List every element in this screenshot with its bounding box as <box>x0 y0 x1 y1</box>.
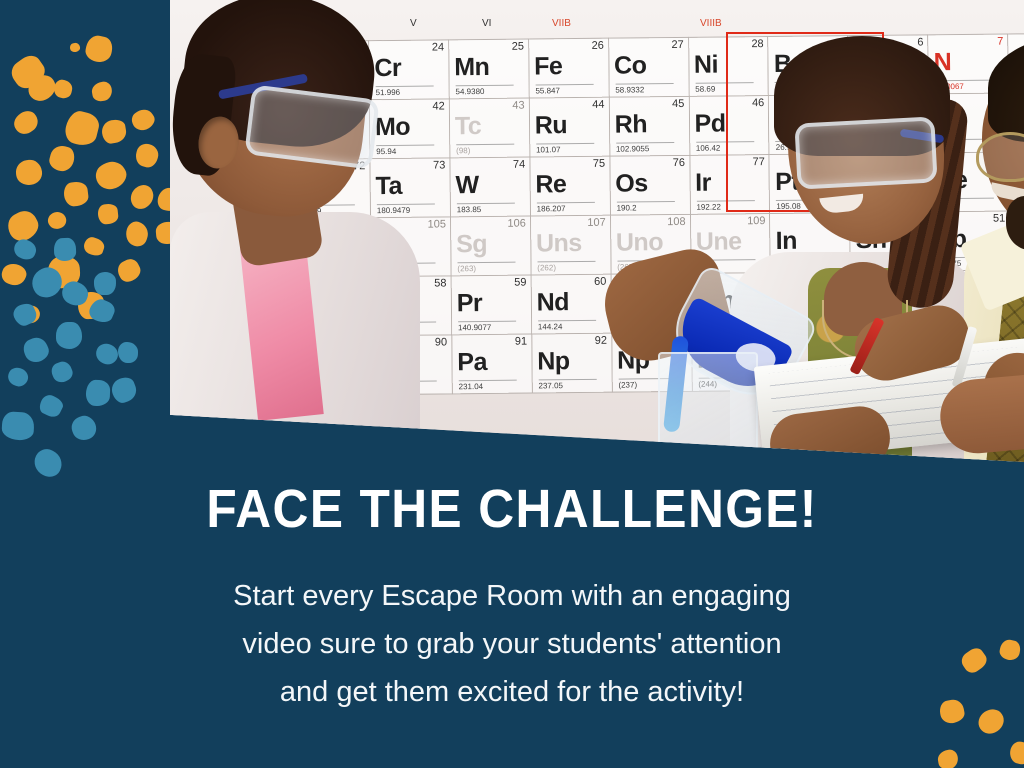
element-symbol: Os <box>615 169 648 198</box>
element-cell-Os: 76Os190.2 <box>610 155 691 215</box>
element-number: 92 <box>595 335 607 347</box>
confetti-teal-dot-icon <box>11 237 38 263</box>
element-number: 58 <box>434 277 446 289</box>
element-mass: (98) <box>456 144 514 156</box>
confetti-orange-dot-icon <box>128 106 157 134</box>
page-title: FACE THE CHALLENGE! <box>41 478 983 540</box>
element-symbol: Pr <box>457 289 483 318</box>
element-symbol: Mo <box>375 113 410 142</box>
confetti-teal-dot-icon <box>1 411 34 440</box>
element-cell-Pd: 46Pd106.42 <box>689 96 770 156</box>
confetti-orange-dot-icon <box>7 51 49 92</box>
element-number: 109 <box>747 215 765 227</box>
body-line-3: and get them excited for the activity! <box>112 668 912 716</box>
body-line-1: Start every Escape Room with an engaging <box>112 572 912 620</box>
element-mass: 54.9380 <box>455 85 513 97</box>
element-number: 59 <box>514 277 526 289</box>
element-number: 74 <box>513 159 525 171</box>
element-symbol: Re <box>535 170 566 199</box>
confetti-teal-dot-icon <box>54 238 77 261</box>
confetti-orange-dot-icon <box>3 207 43 246</box>
element-cell-Mn: 25Mn54.9380 <box>448 39 529 99</box>
element-symbol: Pa <box>457 348 487 377</box>
confetti-teal-dot-icon <box>59 278 92 309</box>
element-mass: 186.207 <box>537 202 595 214</box>
confetti-orange-dot-icon <box>24 70 61 106</box>
element-mass: 231.04 <box>459 380 517 392</box>
element-mass: 144.24 <box>538 320 596 332</box>
element-mass: 58.69 <box>695 82 753 94</box>
element-cell-Ru: 44Ru101.07 <box>529 97 610 157</box>
safety-goggles-icon <box>794 116 937 189</box>
confetti-teal-dot-icon <box>94 272 116 295</box>
confetti-orange-dot-icon <box>100 118 127 145</box>
element-cell-Uns: 107Uns(262) <box>530 215 611 275</box>
element-number: 25 <box>512 41 524 53</box>
body-line-2: video sure to grab your students' attent… <box>112 620 912 668</box>
element-symbol: Fe <box>534 52 562 81</box>
element-symbol: Uno <box>616 228 663 257</box>
element-mass: 106.42 <box>696 141 754 153</box>
element-cell-Pr: 59Pr140.9077 <box>451 275 532 335</box>
confetti-orange-dot-icon <box>938 698 966 725</box>
element-mass: 192.22 <box>696 200 754 212</box>
group-label-VI: VI <box>482 18 491 29</box>
element-number: 91 <box>515 336 527 348</box>
slide-canvas: V VI VIIB VIIIB 23V50.941524Cr51.99625Mn… <box>0 0 1024 768</box>
element-number: 6 <box>917 36 923 48</box>
confetti-teal-dot-icon <box>5 365 31 390</box>
confetti-orange-dot-icon <box>14 158 43 187</box>
element-number: 26 <box>592 40 604 52</box>
element-number: 107 <box>587 217 605 229</box>
element-symbol: Ni <box>694 51 718 80</box>
group-label-VIIIB: VIIIB <box>700 18 722 29</box>
element-number: 105 <box>427 218 445 230</box>
confetti-orange-dot-icon <box>115 256 144 284</box>
confetti-teal-dot-icon <box>86 380 111 406</box>
element-number: 7 <box>997 36 1003 48</box>
element-cell-Nd: 60Nd144.24 <box>531 274 612 334</box>
element-number: 106 <box>507 218 525 230</box>
element-number: 42 <box>432 100 444 112</box>
confetti-orange-dot-icon <box>19 303 43 326</box>
confetti-teal-dot-icon <box>93 340 121 367</box>
confetti-orange-dot-icon <box>47 143 77 173</box>
element-mass: 183.85 <box>457 203 515 215</box>
confetti-orange-dot-icon <box>937 748 960 768</box>
element-cell-W: 74W183.85 <box>450 157 531 217</box>
element-symbol: Ru <box>535 111 568 140</box>
confetti-orange-dot-icon <box>62 109 101 149</box>
confetti-orange-dot-icon <box>958 645 989 676</box>
element-symbol: Sg <box>456 230 487 259</box>
confetti-orange-dot-icon <box>126 181 158 212</box>
element-number: 27 <box>671 39 683 51</box>
element-symbol: Mn <box>454 53 489 82</box>
confetti-teal-dot-icon <box>108 374 139 405</box>
element-number: 45 <box>672 98 684 110</box>
element-number: 90 <box>435 336 447 348</box>
confetti-orange-dot-icon <box>45 209 69 232</box>
confetti-teal-dot-icon <box>20 334 51 365</box>
confetti-orange-dot-icon <box>47 255 81 289</box>
element-cell-Sg: 106Sg(263) <box>450 216 531 276</box>
element-number: 46 <box>752 97 764 109</box>
element-cell-Mo: 42Mo95.94 <box>369 99 450 159</box>
element-cell-Ir: 77Ir192.22 <box>689 155 770 215</box>
element-symbol: Cr <box>374 54 401 83</box>
element-number: 24 <box>432 41 444 53</box>
confetti-teal-dot-icon <box>118 342 138 364</box>
confetti-orange-dot-icon <box>123 219 151 248</box>
element-cell-Ta: 73Ta180.9479 <box>370 158 451 218</box>
confetti-orange-dot-icon <box>91 156 131 195</box>
element-number: 76 <box>673 157 685 169</box>
element-mass: (262) <box>537 261 595 273</box>
element-number: 28 <box>751 38 763 50</box>
confetti-teal-dot-icon <box>87 296 118 325</box>
element-cell-Tc: 43Tc(98) <box>449 98 530 158</box>
element-symbol: W <box>455 171 478 200</box>
element-cell-Np: 92Np237.05 <box>531 333 612 393</box>
confetti-teal-dot-icon <box>69 413 100 444</box>
element-mass: 140.9077 <box>458 321 516 333</box>
element-mass: 237.05 <box>538 379 596 391</box>
element-symbol: Uns <box>536 229 582 258</box>
confetti-orange-dot-icon <box>1008 740 1024 767</box>
element-number: 60 <box>594 276 606 288</box>
confetti-teal-dot-icon <box>11 300 40 328</box>
element-symbol: Pd <box>694 109 725 138</box>
element-number: 51 <box>993 213 1005 225</box>
element-symbol: Rh <box>615 110 648 139</box>
confetti-teal-dot-icon <box>30 445 67 481</box>
confetti-orange-dot-icon <box>133 141 161 169</box>
decorative-dot-field-left <box>0 0 175 500</box>
confetti-orange-dot-icon <box>97 203 119 225</box>
element-symbol: Ir <box>695 169 711 198</box>
element-number: 75 <box>593 158 605 170</box>
element-symbol: Co <box>614 51 647 80</box>
element-mass: (263) <box>457 262 515 274</box>
confetti-teal-dot-icon <box>27 263 66 302</box>
group-label-VIIB: VIIB <box>552 18 571 29</box>
element-number: 108 <box>667 216 685 228</box>
element-cell-Rh: 45Rh102.9055 <box>609 96 690 156</box>
element-mass: 95.94 <box>376 145 434 157</box>
confetti-orange-dot-icon <box>10 107 42 138</box>
element-cell-Pa: 91Pa231.04 <box>452 334 533 394</box>
confetti-orange-dot-icon <box>63 181 90 207</box>
element-symbol: Np <box>537 347 570 376</box>
group-label-V: V <box>410 18 417 29</box>
element-mass: 58.9332 <box>615 83 673 95</box>
element-number: 43 <box>512 100 524 112</box>
element-mass: 102.9055 <box>616 142 674 154</box>
element-number: 44 <box>592 99 604 111</box>
decorative-dot-field-bottom-right <box>894 638 1024 768</box>
element-mass: 51.996 <box>376 86 434 98</box>
element-mass: 55.847 <box>535 84 593 96</box>
element-mass: 180.9479 <box>377 204 435 216</box>
confetti-orange-dot-icon <box>998 638 1022 662</box>
lab-photo: V VI VIIB VIIIB 23V50.941524Cr51.99625Mn… <box>170 0 1024 462</box>
element-cell-Co: 27Co58.9332 <box>608 37 689 97</box>
confetti-orange-dot-icon <box>974 705 1008 738</box>
element-symbol: Tc <box>455 112 482 141</box>
element-number: 77 <box>753 156 765 168</box>
confetti-teal-dot-icon <box>49 359 75 385</box>
confetti-orange-dot-icon <box>52 78 74 100</box>
confetti-orange-dot-icon <box>69 42 81 53</box>
confetti-orange-dot-icon <box>82 235 107 258</box>
element-mass: 101.07 <box>536 143 594 155</box>
beaker-icon <box>658 352 758 462</box>
confetti-teal-dot-icon <box>37 392 66 420</box>
confetti-orange-dot-icon <box>91 80 114 102</box>
element-cell-Re: 75Re186.207 <box>530 156 611 216</box>
confetti-orange-dot-icon <box>84 34 115 65</box>
element-symbol: Nd <box>536 288 569 317</box>
confetti-teal-dot-icon <box>56 322 82 349</box>
element-cell-Cr: 24Cr51.996 <box>369 40 450 100</box>
element-cell-Fe: 26Fe55.847 <box>528 38 609 98</box>
confetti-orange-dot-icon <box>0 261 29 289</box>
element-number: 73 <box>433 159 445 171</box>
element-mass: 190.2 <box>616 201 674 213</box>
element-cell-Ni: 28Ni58.69 <box>688 37 769 97</box>
element-symbol: Ta <box>375 172 402 201</box>
confetti-orange-dot-icon <box>77 291 104 319</box>
body-text: Start every Escape Room with an engaging… <box>112 572 912 716</box>
